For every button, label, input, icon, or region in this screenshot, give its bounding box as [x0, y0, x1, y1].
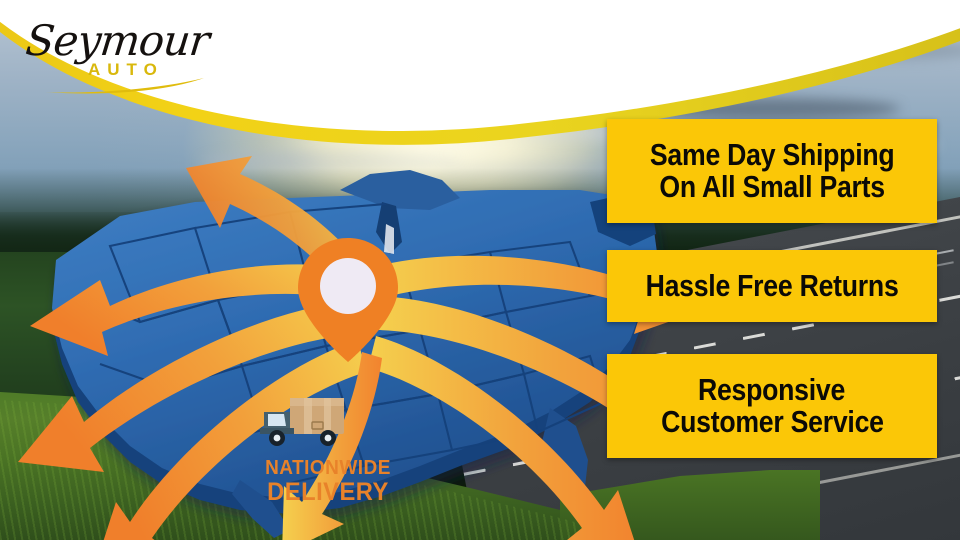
banner-line: Hassle Free Returns	[646, 270, 899, 302]
promo-banner-stage: NATIONWIDE DELIVERY Seymour AUTO Same Da…	[0, 0, 960, 540]
banner-line: Same Day Shipping	[650, 139, 895, 171]
usa-map-svg	[0, 150, 670, 540]
logo-subtitle: AUTO	[88, 60, 164, 80]
seymour-auto-logo[interactable]: Seymour AUTO	[26, 12, 216, 96]
logo-wordmark: Seymour	[23, 16, 211, 65]
feature-banner-same-day-shipping[interactable]: Same Day Shipping On All Small Parts	[607, 119, 937, 223]
banner-line: On All Small Parts	[659, 171, 884, 203]
banner-line: Responsive	[698, 374, 845, 406]
feature-banner-responsive-customer-service[interactable]: Responsive Customer Service	[607, 354, 937, 458]
swoosh-icon	[44, 78, 206, 94]
usa-map-graphic: NATIONWIDE DELIVERY	[0, 150, 670, 540]
feature-banner-hassle-free-returns[interactable]: Hassle Free Returns	[607, 250, 937, 322]
delivery-truck-icon	[260, 394, 356, 452]
banner-line: Customer Service	[661, 406, 884, 438]
